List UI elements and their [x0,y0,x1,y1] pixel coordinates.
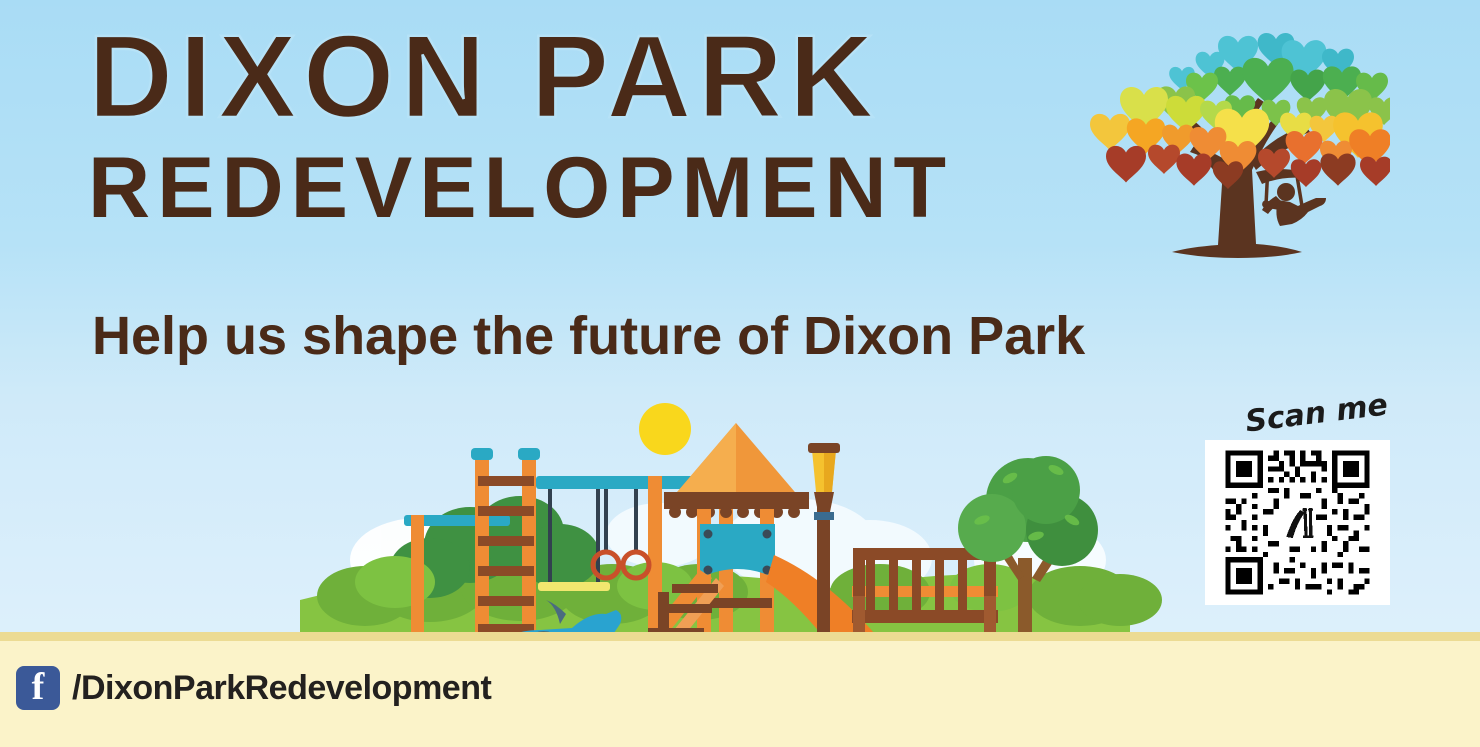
sun-icon [639,403,691,455]
headline-block: DIXON PARK DIXON PARK REDEVELOPMENT [88,18,953,234]
tagline: Help us shape the future of Dixon Park [92,305,1085,367]
page-title-primary-text: DIXON PARK [88,11,880,143]
banner-root: DIXON PARK DIXON PARK REDEVELOPMENT Help… [0,0,1480,747]
playground-slide-icon [1279,504,1316,541]
facebook-handle[interactable]: /DixonParkRedevelopment [72,669,491,708]
qr-code-block[interactable]: Scan me [1205,440,1390,605]
heart-tree-logo [1090,20,1390,260]
heart-leaves [1090,33,1390,189]
facebook-icon[interactable] [16,666,60,710]
page-title-secondary: REDEVELOPMENT [88,142,953,234]
qr-code[interactable] [1205,440,1390,605]
qr-code-matrix[interactable] [1210,445,1385,600]
footer-band-stripe [0,632,1480,641]
social-footer[interactable]: /DixonParkRedevelopment [16,666,491,710]
page-title-primary: DIXON PARK DIXON PARK [88,18,953,136]
